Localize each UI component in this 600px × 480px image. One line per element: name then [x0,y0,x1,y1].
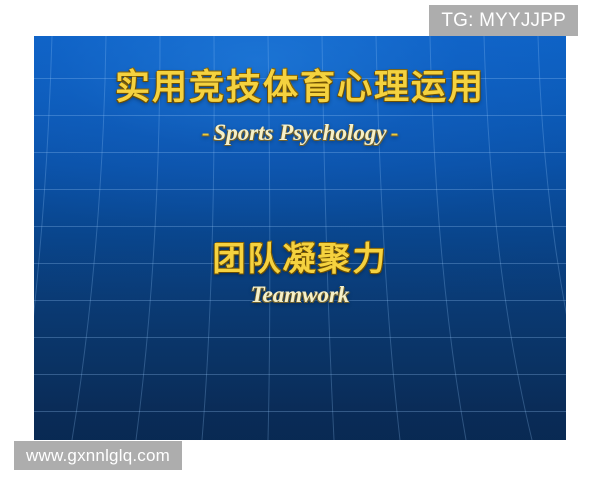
title-english-text: Sports Psychology [213,120,386,145]
title-dash-right: - [387,120,403,145]
slide-heading-chinese: 团队凝聚力 [34,239,566,279]
slide-text-content: 实用竞技体育心理运用 -Sports Psychology- 团队凝聚力 Tea… [34,36,566,440]
slide-heading-english: Teamwork [34,281,566,309]
presentation-slide: 实用竞技体育心理运用 -Sports Psychology- 团队凝聚力 Tea… [34,36,566,440]
page-canvas: 实用竞技体育心理运用 -Sports Psychology- 团队凝聚力 Tea… [0,0,600,480]
slide-title-english: -Sports Psychology- [34,119,566,147]
title-dash-left: - [198,120,214,145]
slide-title-chinese: 实用竞技体育心理运用 [34,67,566,109]
telegram-handle-watermark: TG: MYYJJPP [429,5,578,36]
site-url-watermark: www.gxnnlglq.com [14,441,182,470]
